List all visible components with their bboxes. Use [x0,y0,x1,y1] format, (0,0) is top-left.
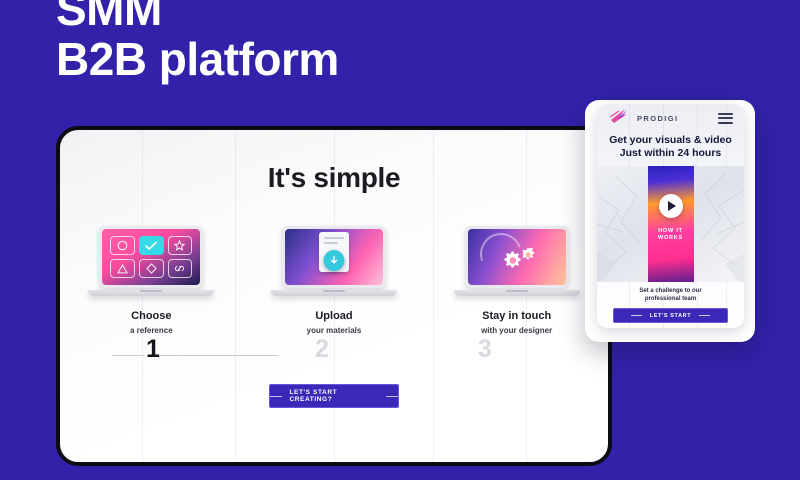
phone-start-button[interactable]: LET'S START [613,308,728,323]
steps-row: Choose a reference [60,226,608,335]
step-choose[interactable]: Choose a reference [76,226,226,335]
phone-headline: Get your visuals & video Just within 24 … [597,134,744,160]
diamond-icon [139,259,164,278]
phone-subtext: Set a challenge to our professional team [597,287,744,303]
circle-icon [110,236,135,255]
step-stay-in-touch[interactable]: Stay in touch with your designer [442,226,592,335]
link-icon [168,259,193,278]
page-title-line-2: B2B platform [56,34,339,84]
laptop-upload-icon [282,226,386,296]
hamburger-menu-icon[interactable] [718,113,733,124]
check-icon [139,236,164,255]
start-creating-button[interactable]: LET'S START CREATING? [269,384,399,408]
website-mockup-card: It's simple [56,126,612,466]
triangle-icon [110,259,135,278]
laptop-screen [468,229,566,285]
laptop-lid [99,226,203,288]
download-arrow-icon [323,250,344,271]
video-label-line-2: WORKS [597,235,744,242]
step-number-3[interactable]: 3 [478,332,492,366]
video-label-line-1: HOW IT [597,228,744,235]
phone-mockup: PRODIGI Get your visuals & video Just wi… [597,104,744,328]
laptop-base [88,290,214,296]
progress-line-right [160,355,278,356]
step-progress: 1 2 3 [60,332,608,372]
step-title: Choose [131,310,171,322]
video-hero[interactable]: HOW IT WORKS [597,166,744,282]
brand-name: PRODIGI [637,114,678,123]
laptop-gears-icon [465,226,569,296]
laptop-base [454,290,580,296]
phone-subtext-line-1: Set a challenge to our [597,287,744,295]
step-upload[interactable]: Upload your materials [259,226,409,335]
hero-phone-visual [648,166,694,282]
slide-canvas: SMM B2B platform It's simple [0,0,800,480]
dash-right [386,396,398,397]
shape-grid [110,236,192,278]
phone-start-label: LET'S START [650,313,691,319]
laptop-screen [102,229,200,285]
start-creating-label: LET'S START CREATING? [289,389,378,403]
dash-right [699,315,710,316]
laptop-lid [465,226,569,288]
phone-headline-line-1: Get your visuals & video [597,134,744,147]
laptop-screen [285,229,383,285]
phone-topbar: PRODIGI [597,104,744,132]
video-label: HOW IT WORKS [597,228,744,242]
play-icon[interactable] [659,194,683,218]
step-title: Upload [315,310,352,322]
laptop-shapes-icon [99,226,203,296]
star-icon [168,236,193,255]
gears-icon [498,245,542,284]
section-heading: It's simple [60,162,608,194]
dash-left [631,315,642,316]
step-number-1[interactable]: 1 [146,332,160,366]
prodigi-logo-icon [608,107,630,130]
laptop-base [271,290,397,296]
dash-left [270,396,282,397]
page-title: SMM B2B platform [56,0,339,84]
step-number-2[interactable]: 2 [315,332,329,366]
progress-line-left [112,355,144,356]
phone-headline-line-2: Just within 24 hours [597,147,744,160]
laptop-lid [282,226,386,288]
page-title-line-1: SMM [56,0,162,35]
step-title: Stay in touch [482,310,551,322]
phone-subtext-line-2: professional team [597,295,744,303]
